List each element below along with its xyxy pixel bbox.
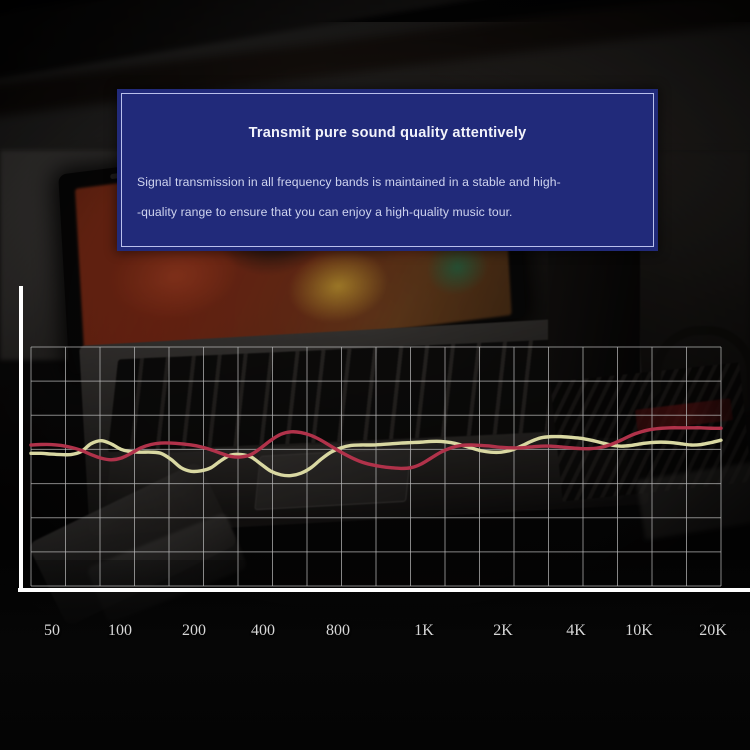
x-tick-label: 100 <box>108 622 132 640</box>
x-tick-label: 50 <box>44 622 60 640</box>
chart-x-tick-labels: 501002004008001K2K4K10K20K <box>0 622 750 648</box>
x-tick-label: 4K <box>566 622 586 640</box>
chart-axes <box>18 286 750 592</box>
x-tick-label: 2K <box>493 622 513 640</box>
x-tick-label: 1K <box>414 622 434 640</box>
x-tick-label: 10K <box>625 622 653 640</box>
x-tick-label: 400 <box>251 622 275 640</box>
x-tick-label: 800 <box>326 622 350 640</box>
product-infographic: Transmit pure sound quality attentively … <box>0 0 750 750</box>
x-tick-label: 200 <box>182 622 206 640</box>
frequency-response-chart: 501002004008001K2K4K10K20K <box>0 0 750 750</box>
x-tick-label: 20K <box>699 622 727 640</box>
